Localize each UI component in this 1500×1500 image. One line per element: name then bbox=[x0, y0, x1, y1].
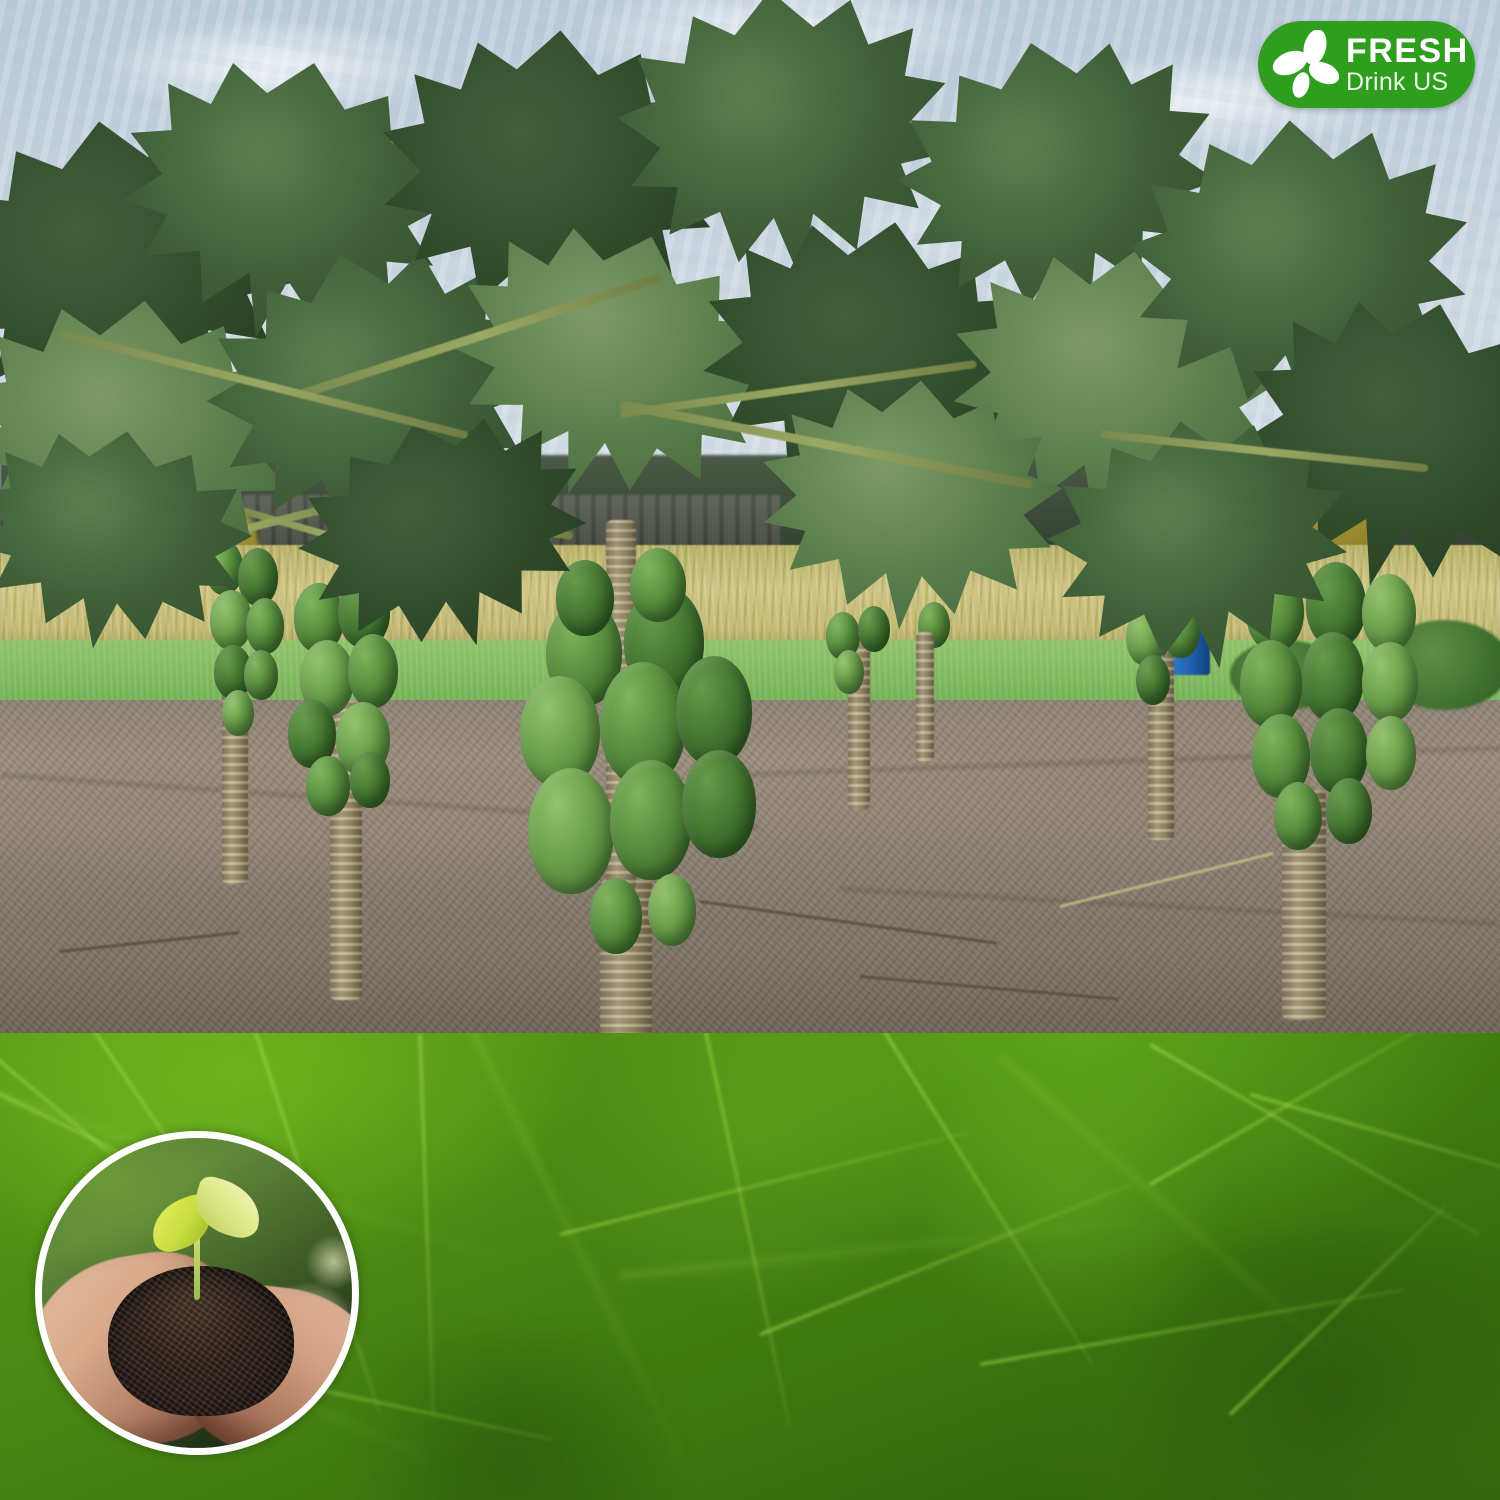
papaya-infographic-poster: FRESH Drink US bbox=[0, 0, 1500, 1500]
logo-secondary-text: Drink US bbox=[1346, 70, 1469, 95]
papaya-fruit bbox=[648, 874, 696, 946]
leaf-cluster-icon bbox=[1268, 30, 1346, 100]
papaya-fruit bbox=[556, 560, 614, 636]
papaya-fruit bbox=[1366, 716, 1416, 790]
brand-logo[interactable]: FRESH Drink US bbox=[1258, 21, 1475, 108]
papaya-fruit bbox=[834, 650, 864, 694]
logo-wordmark: FRESH Drink US bbox=[1346, 34, 1469, 95]
papaya-fruit bbox=[682, 750, 756, 858]
papaya-fruit bbox=[1326, 778, 1372, 844]
papaya-fruit bbox=[610, 760, 692, 880]
papaya-fruit bbox=[306, 756, 350, 816]
papaya-fruit bbox=[858, 606, 890, 652]
papaya-fruit bbox=[350, 752, 390, 808]
papaya-orchard-photo: FRESH Drink US bbox=[0, 0, 1500, 1033]
papaya-fruit bbox=[1136, 655, 1170, 705]
papaya-fruit bbox=[244, 650, 278, 700]
papaya-fruit bbox=[1274, 782, 1322, 850]
papaya-fruit bbox=[348, 634, 398, 708]
papaya-fruit bbox=[1362, 574, 1416, 652]
papaya-fruit bbox=[246, 598, 284, 654]
seedling-in-hands-image bbox=[35, 1131, 359, 1455]
papaya-trunk bbox=[916, 632, 934, 762]
papaya-fruit bbox=[1362, 642, 1418, 722]
papaya-fruit bbox=[630, 548, 686, 622]
papaya-fruit bbox=[222, 690, 254, 736]
papaya-fruit bbox=[528, 768, 614, 894]
papaya-fruit bbox=[1240, 640, 1302, 728]
logo-primary-text: FRESH bbox=[1346, 34, 1469, 68]
soil-mound bbox=[108, 1266, 294, 1416]
papaya-fruit bbox=[590, 878, 642, 954]
